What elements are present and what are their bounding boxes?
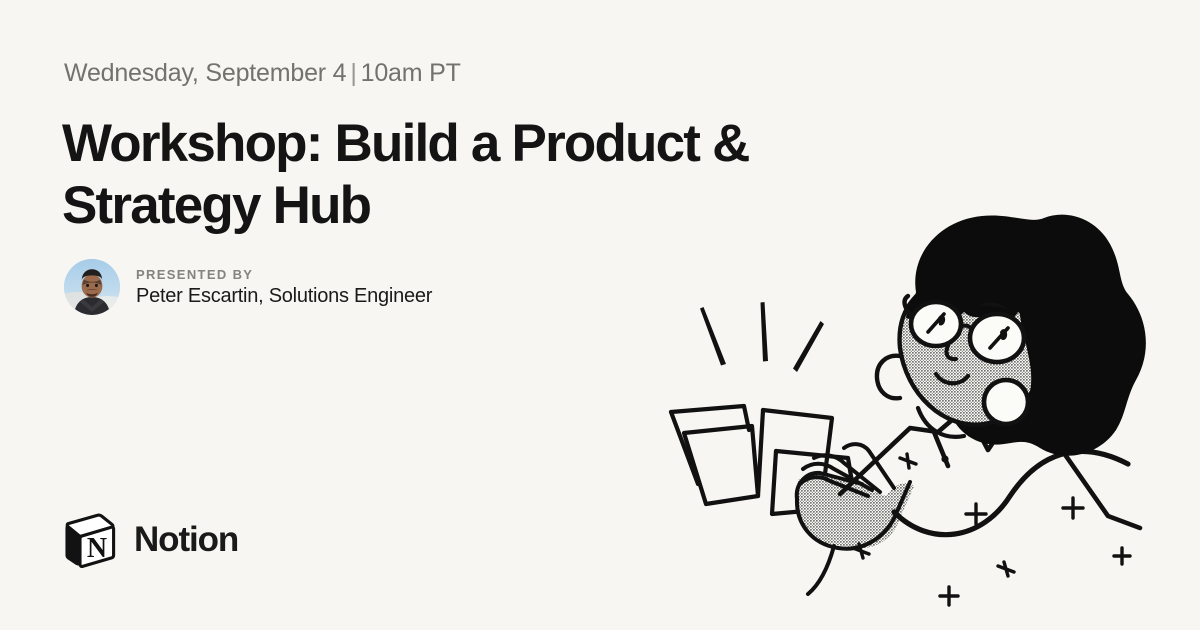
emphasis-lines <box>700 302 824 372</box>
ear <box>877 356 900 399</box>
presenter-text: PRESENTED BY Peter Escartin, Solutions E… <box>136 267 432 308</box>
shirt-dot <box>941 455 948 462</box>
notion-cube-icon: N <box>64 512 116 568</box>
presenter-name: Peter Escartin, Solutions Engineer <box>136 285 432 308</box>
person-reading-book-illustration <box>648 196 1188 630</box>
notion-logo-letter: N <box>87 533 107 564</box>
date-time-separator: | <box>346 59 360 87</box>
avatar <box>64 259 120 315</box>
event-time: 10am PT <box>361 59 461 87</box>
event-date-time: Wednesday, September 4|10am PT <box>64 59 461 88</box>
earring <box>984 380 1028 424</box>
presenter-block: PRESENTED BY Peter Escartin, Solutions E… <box>64 259 432 315</box>
event-banner: Wednesday, September 4|10am PT Workshop:… <box>0 0 1200 630</box>
brand-name: Notion <box>134 520 238 560</box>
brand-lockup: N Notion <box>64 512 238 568</box>
head <box>648 196 1188 630</box>
presented-by-label: PRESENTED BY <box>136 267 432 282</box>
event-date: Wednesday, September 4 <box>64 59 346 87</box>
